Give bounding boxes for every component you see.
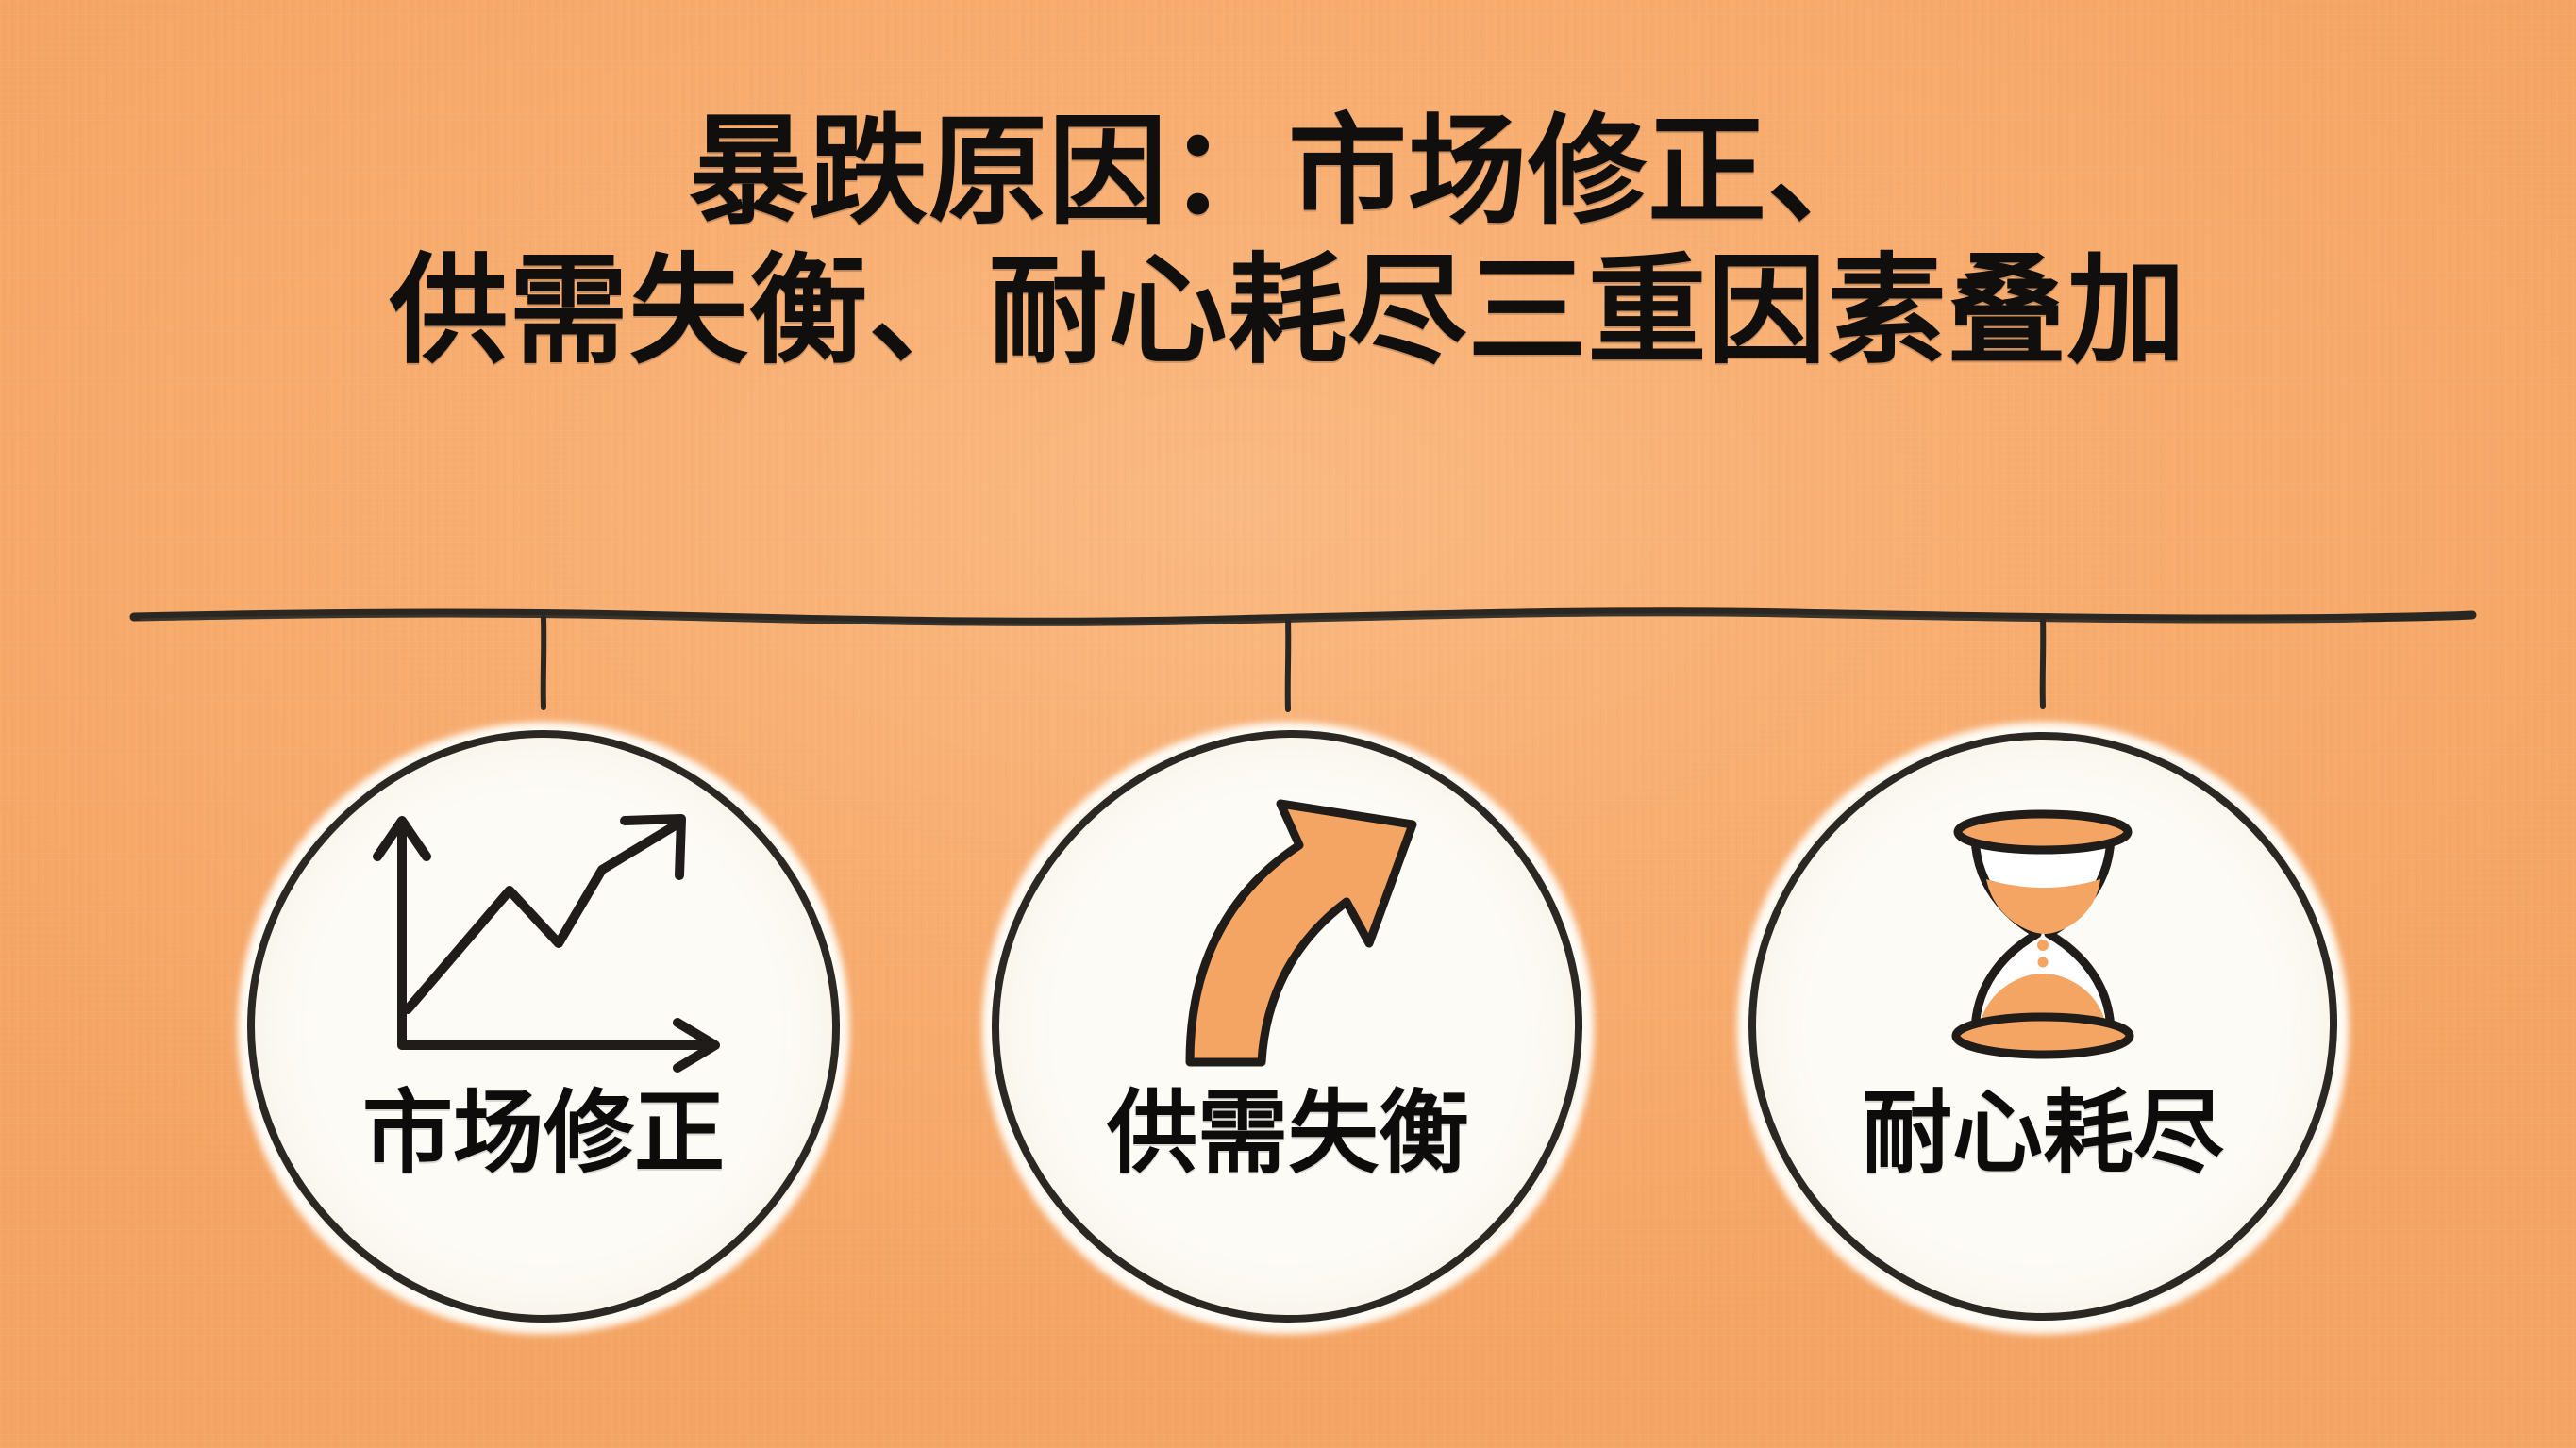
node-supply-demand-imbalance[interactable]: 供需失衡 (977, 717, 1599, 1358)
infographic-canvas: 暴跌原因：市场修正、 供需失衡、耐心耗尽三重因素叠加 (0, 0, 2576, 1448)
node-label-supply-demand-imbalance: 供需失衡 (977, 1085, 1599, 1183)
node-market-correction[interactable]: 市场修正 (232, 717, 855, 1358)
hourglass-icon (1835, 792, 2250, 1075)
node-patience-exhausted[interactable]: 耐心耗尽 (1731, 717, 2354, 1358)
node-label-market-correction: 市场修正 (232, 1085, 855, 1183)
stem-2 (1288, 620, 1289, 709)
title-line-2: 供需失衡、耐心耗尽三重因素叠加 (0, 241, 2576, 381)
hanging-rule-group (0, 566, 2576, 736)
title-line-1: 暴跌原因：市场修正、 (0, 102, 2576, 241)
curved-up-arrow-icon (1080, 792, 1496, 1075)
node-row: 市场修正 供需失衡 (0, 717, 2576, 1377)
stem-1 (544, 618, 544, 707)
stem-3 (2043, 617, 2044, 707)
line-chart-icon (336, 792, 751, 1075)
page-title: 暴跌原因：市场修正、 供需失衡、耐心耗尽三重因素叠加 (0, 102, 2576, 381)
node-label-patience-exhausted: 耐心耗尽 (1731, 1085, 2354, 1183)
